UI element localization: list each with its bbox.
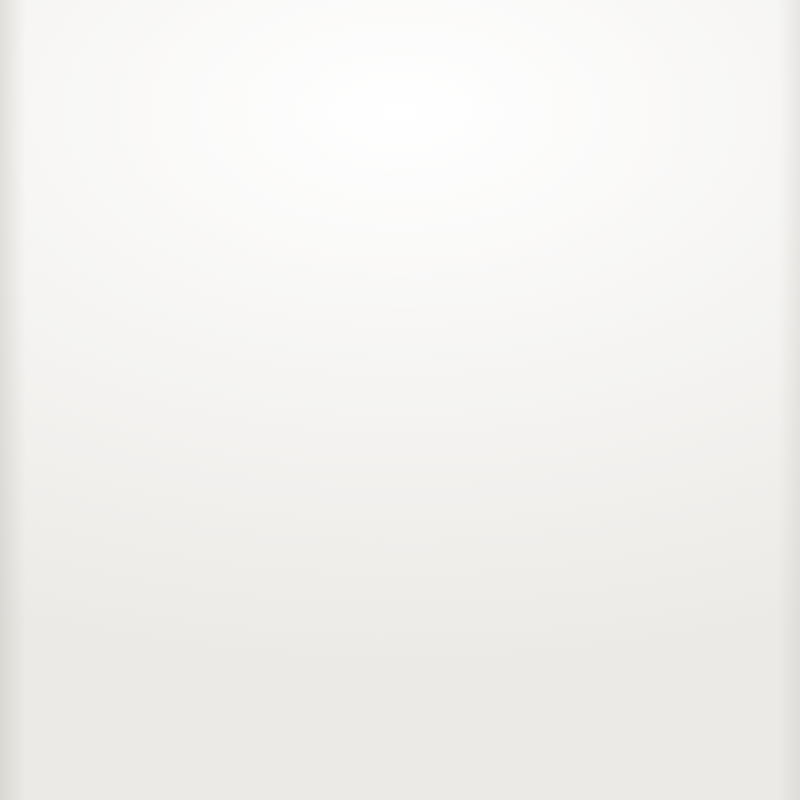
senior-man [518, 223, 611, 390]
card-label-working: Working [139, 409, 261, 440]
hiker-right [192, 532, 320, 703]
scene-home-improvements [402, 470, 788, 708]
card-label-band-working: Working [12, 393, 388, 456]
cargo-pants [490, 591, 557, 680]
feature-card-trekking[interactable]: Trekking [12, 470, 388, 762]
shoe [505, 675, 537, 688]
feature-card-hangouts[interactable]: Hangouts [402, 164, 788, 456]
scene-trekking [12, 470, 388, 708]
card-photo-hangouts [402, 164, 788, 389]
feature-card-home-improvements[interactable]: Home Improvements [402, 470, 788, 762]
digging-man [166, 182, 241, 362]
binoculars [236, 621, 259, 640]
card-label-hangouts: Hangouts [525, 412, 666, 443]
hiking-boot-right [162, 682, 211, 703]
boot-right [204, 331, 216, 358]
mug [641, 308, 664, 326]
card-label-band-trekking: Trekking [12, 704, 388, 762]
camera [106, 619, 128, 638]
feature-card-grid: Working [0, 0, 800, 800]
hiker-left [65, 527, 185, 703]
boot-left [181, 331, 193, 358]
card-photo-home-improvements [402, 470, 788, 708]
window-right [726, 480, 772, 523]
scene-working [12, 164, 388, 389]
jeans [608, 345, 697, 389]
roadside [335, 599, 388, 708]
feature-card-working[interactable]: Working [12, 164, 388, 456]
card-label-band-hangouts: Hangouts [402, 398, 788, 456]
card-photo-working [12, 164, 388, 389]
head [633, 232, 670, 265]
card-photo-trekking [12, 470, 388, 708]
scene-hangouts [402, 164, 788, 389]
sawhorse-leg [631, 622, 648, 697]
water-bottle-right [305, 618, 331, 658]
glove-upper [193, 204, 202, 218]
trekking-pole [27, 551, 32, 708]
head [544, 223, 581, 258]
card-label-band-home-improvements: Home Improvements [402, 704, 788, 762]
sawhorse-leg [664, 622, 683, 697]
card-label-home-improvements: Home Improvements [442, 718, 748, 749]
poster-canvas: MADE FOR ACTIVE LIFESTYLE with Comfort i… [0, 0, 800, 800]
glove-lower [202, 261, 211, 275]
water-bottle-left [185, 575, 211, 615]
card-label-trekking: Trekking [137, 718, 263, 749]
worker [479, 499, 587, 685]
farmhouse [102, 245, 121, 256]
